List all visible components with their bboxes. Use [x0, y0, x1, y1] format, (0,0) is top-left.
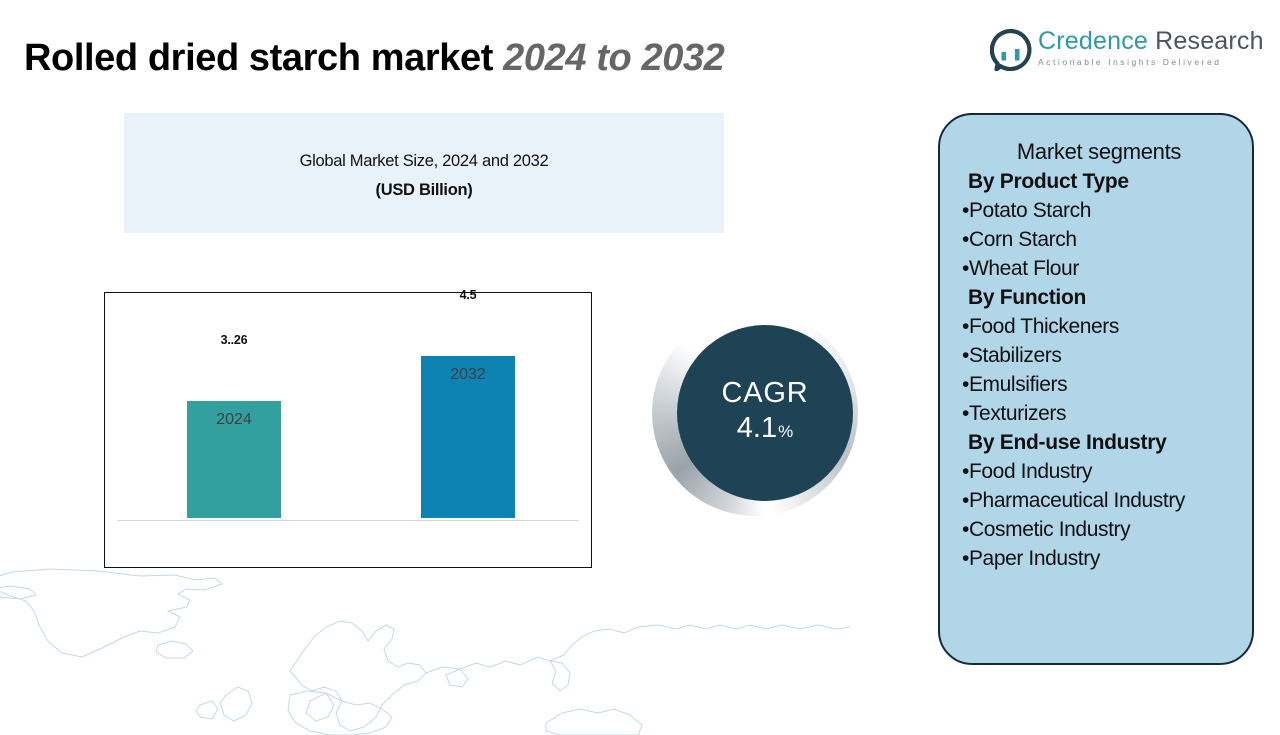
segments-list: By Product Type•Potato Starch•Corn Starc…	[962, 167, 1236, 573]
bar-value-label-2024: 3..26	[187, 333, 281, 347]
bullet-icon: •	[962, 518, 969, 541]
bullet-icon: •	[962, 228, 969, 251]
bar-tick-label-2024: 2024	[179, 411, 289, 429]
page-title: Rolled dried starch market 2024 to 2032	[24, 37, 724, 80]
brand-tagline: Actionable Insights Delivered	[1038, 57, 1250, 67]
bullet-icon: •	[962, 547, 969, 570]
chart-caption-unit: (USD Billion)	[124, 181, 724, 200]
bullet-icon: •	[962, 373, 969, 396]
bullet-icon: •	[962, 315, 969, 338]
segments-title: Market segments	[962, 137, 1236, 166]
page-title-main: Rolled dried starch market	[24, 37, 503, 79]
cagr-percent-sign: %	[778, 414, 793, 450]
segments-list-item: •Food Industry	[962, 457, 1236, 486]
cagr-label: CAGR	[722, 376, 809, 410]
bullet-icon: •	[962, 489, 969, 512]
cagr-badge: CAGR 4.1%	[652, 310, 858, 516]
segments-list-item: •Pharmaceutical Industry	[962, 486, 1236, 515]
segments-list-item: •Stabilizers	[962, 341, 1236, 370]
segments-list-item: •Potato Starch	[962, 196, 1236, 225]
segments-list-item: •Corn Starch	[962, 225, 1236, 254]
chart-caption-band: Global Market Size, 2024 and 2032 (USD B…	[124, 113, 724, 233]
bullet-icon: •	[962, 199, 969, 222]
segments-list-item: •Food Thickeners	[962, 312, 1236, 341]
cagr-disc: CAGR 4.1%	[677, 325, 853, 501]
segments-list-item: •Cosmetic Industry	[962, 515, 1236, 544]
bar-chart-plot-area: 3..26 2024 4.5 2032	[105, 293, 591, 567]
bar-chart-axis-line	[117, 520, 579, 521]
bar-value-label-2032: 4.5	[421, 288, 515, 302]
cagr-value: 4.1	[737, 410, 777, 446]
world-map-outline-icon	[0, 545, 850, 735]
bar-tick-label-2032: 2032	[413, 366, 523, 384]
brand-logo-wordmark: Credence Research	[1038, 26, 1250, 56]
bar-chart-bubble-icon	[990, 29, 1032, 71]
segments-list-item: •Emulsifiers	[962, 370, 1236, 399]
segments-list-item: •Paper Industry	[962, 544, 1236, 573]
bar-column-2024: 3..26 2024	[187, 401, 281, 518]
segments-list-item: •Wheat Flour	[962, 254, 1236, 283]
bullet-icon: •	[962, 344, 969, 367]
brand-logo[interactable]: Credence Research Actionable Insights De…	[990, 26, 1250, 80]
market-segments-panel: Market segments By Product Type•Potato S…	[938, 113, 1254, 665]
brand-logo-text: Credence Research Actionable Insights De…	[1038, 26, 1250, 67]
page-title-years: 2024 to 2032	[503, 37, 724, 79]
segments-list-item: •Texturizers	[962, 399, 1236, 428]
segments-group-heading: By Product Type	[962, 167, 1236, 196]
bar-column-2032: 4.5 2032	[421, 356, 515, 518]
cagr-value-row: 4.1%	[737, 410, 793, 450]
segments-group-heading: By Function	[962, 283, 1236, 312]
bar-chart: 3..26 2024 4.5 2032	[104, 292, 592, 568]
brand-name-secondary: Research	[1148, 27, 1264, 55]
segments-group-heading: By End-use Industry	[962, 428, 1236, 457]
chart-caption-title: Global Market Size, 2024 and 2032	[124, 152, 724, 171]
bullet-icon: •	[962, 402, 969, 425]
bullet-icon: •	[962, 460, 969, 483]
bullet-icon: •	[962, 257, 969, 280]
brand-name-primary: Credence	[1038, 27, 1148, 55]
